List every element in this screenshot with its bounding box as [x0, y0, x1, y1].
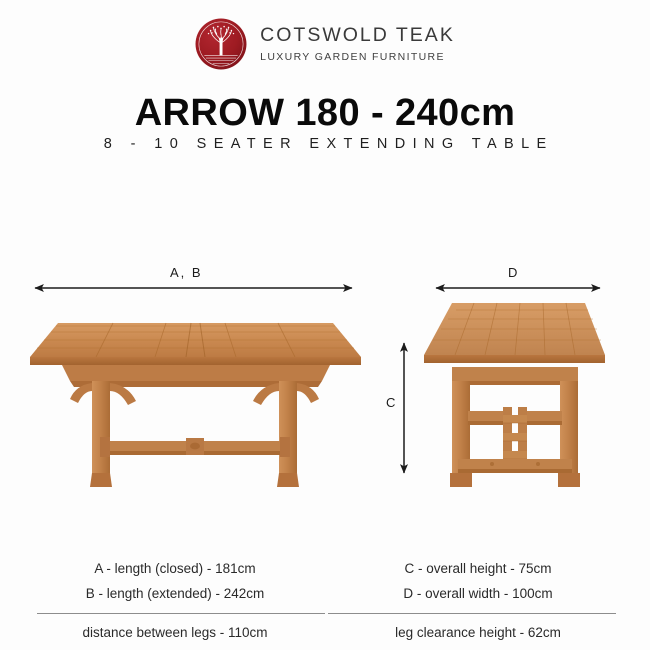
table-illustrations	[0, 255, 650, 505]
spec-overall-width: D - overall width - 100cm	[328, 581, 628, 606]
specs-column-left: A - length (closed) - 181cm B - length (…	[25, 556, 325, 645]
spec-length-extended: B - length (extended) - 242cm	[25, 581, 325, 606]
product-subtitle: 8 - 10 SEATER EXTENDING TABLE	[0, 136, 650, 152]
brand-header: COTSWOLD TEAK LUXURY GARDEN FURNITURE	[0, 18, 650, 70]
specs-column-right: C - overall height - 75cm D - overall wi…	[328, 556, 628, 645]
dimension-diagram: A, B D C	[0, 255, 650, 505]
spec-distance-between-legs: distance between legs - 110cm	[25, 620, 325, 645]
specifications: A - length (closed) - 181cm B - length (…	[0, 556, 650, 650]
product-title: ARROW 180 - 240cm	[0, 92, 650, 135]
spec-divider-right	[328, 613, 616, 614]
spec-length-closed: A - length (closed) - 181cm	[25, 556, 325, 581]
spec-overall-height: C - overall height - 75cm	[328, 556, 628, 581]
brand-tagline: LUXURY GARDEN FURNITURE	[260, 52, 455, 63]
table-side-view	[30, 323, 361, 487]
brand-wordmark: COTSWOLD TEAK LUXURY GARDEN FURNITURE	[260, 26, 455, 62]
brand-name: COTSWOLD TEAK	[260, 26, 455, 46]
product-spec-sheet: COTSWOLD TEAK LUXURY GARDEN FURNITURE AR…	[0, 0, 650, 650]
tree-circle-emblem-icon	[195, 18, 247, 70]
table-end-view	[424, 303, 605, 487]
spec-divider-left	[37, 613, 325, 614]
spec-leg-clearance-height: leg clearance height - 62cm	[328, 620, 628, 645]
